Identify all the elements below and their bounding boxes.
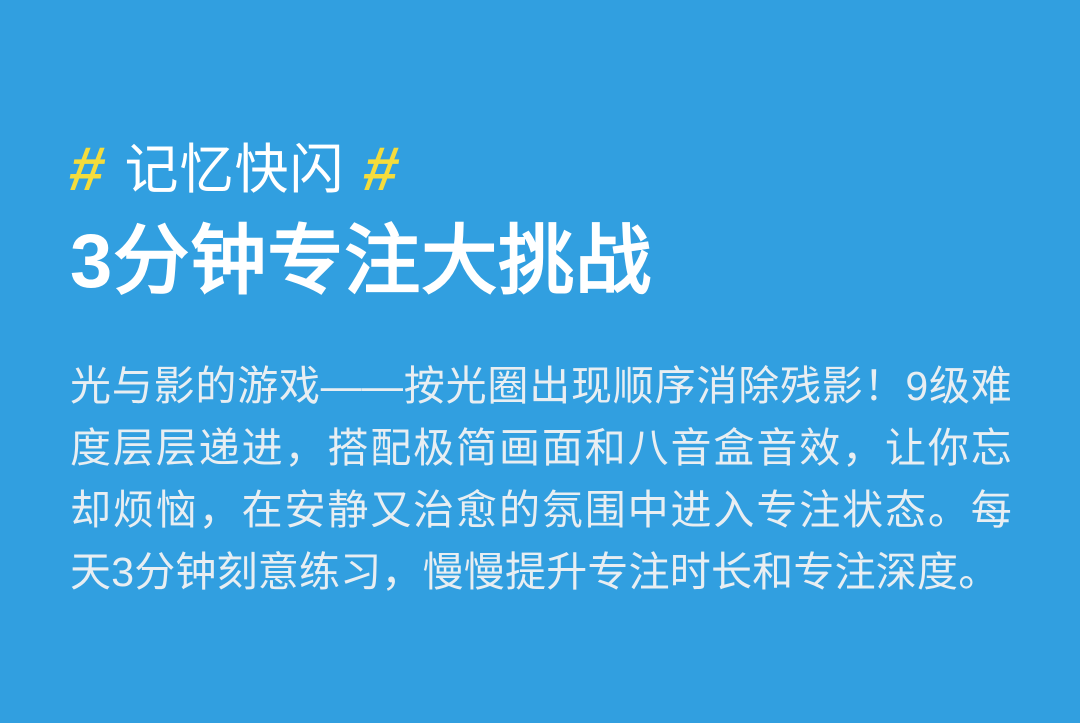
- page-title: 3分钟专注大挑战: [70, 222, 1010, 303]
- promo-poster: # 记忆快闪 # 3分钟专注大挑战 光与影的游戏——按光圈出现顺序消除残影！9级…: [0, 0, 1080, 723]
- tagline: # 记忆快闪 #: [70, 138, 1010, 202]
- hash-icon-left: #: [65, 139, 109, 201]
- tagline-label: 记忆快闪: [124, 143, 344, 197]
- description-text: 光与影的游戏——按光圈出现顺序消除残影！9级难度层层递进，搭配极简画面和八音盒音…: [70, 355, 1012, 603]
- hash-icon-right: #: [360, 139, 404, 201]
